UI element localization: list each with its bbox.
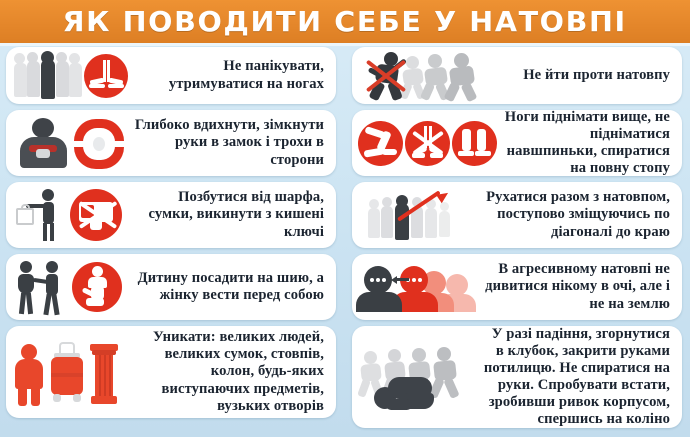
card-text: У разі падіння, згорнутися в клубок, зак…	[478, 326, 674, 428]
red-diagonal-arrow-icon	[398, 192, 460, 226]
red-suitcase-icon	[50, 342, 84, 406]
dark-head-icon	[358, 264, 404, 312]
icons-no-panic	[12, 51, 128, 101]
person-hands-locked-icon	[16, 118, 72, 170]
red-circle-flat-feet-icon	[452, 121, 497, 166]
icons-raise-feet	[358, 119, 498, 167]
card-raise-feet-higher[interactable]: Ноги піднімати вище, не підніматися навш…	[352, 110, 682, 176]
red-circle-no-tiptoe-icon	[405, 121, 450, 166]
icons-child-on-shoulders	[12, 259, 128, 315]
icons-move-with-crowd	[358, 190, 470, 240]
infographic-page: ЯК ПОВОДИТИ СЕБЕ У НАТОВПІ	[0, 0, 690, 437]
card-text: В агресивному натовпі не дивитися нікому…	[476, 261, 674, 312]
card-child-on-shoulders[interactable]: Дитину посадити на шию, а жінку вести пе…	[6, 254, 336, 320]
red-column-icon	[90, 344, 118, 406]
dark-curled-fallen-person-icon	[374, 375, 446, 411]
card-avoid-eye-contact[interactable]: В агресивному натовпі не дивитися нікому…	[352, 254, 682, 320]
card-text: Уникати: великих людей, великих сумок, с…	[122, 329, 328, 414]
crowd-with-one-dark-person-icon	[12, 51, 84, 99]
card-deep-breath[interactable]: Глибоко вдихнути, зімкнути руки в замок …	[6, 110, 336, 176]
card-drop-scarf-bag[interactable]: Позбутися від шарфа, сумки, викинути з к…	[6, 182, 336, 248]
icons-drop-bag	[12, 187, 128, 243]
card-text: Глибоко вдихнути, зімкнути руки в замок …	[128, 117, 328, 168]
red-circle-no-bag-prohibited-icon	[70, 189, 122, 241]
red-circle-raised-leg-icon	[358, 121, 403, 166]
header-divider	[0, 43, 690, 46]
card-no-panic[interactable]: Не панікувати, утримуватися на ногах	[6, 47, 336, 104]
page-title: ЯК ПОВОДИТИ СЕБЕ У НАТОВПІ	[63, 5, 627, 38]
card-if-you-fall[interactable]: У разі падіння, згорнутися в клубок, зак…	[352, 326, 682, 428]
card-move-with-crowd[interactable]: Рухатися разом з натовпом, поступово змі…	[352, 182, 682, 248]
left-column: Не панікувати, утримуватися на ногах	[6, 47, 336, 424]
icons-deep-breath	[12, 114, 128, 172]
card-text: Рухатися разом з натовпом, поступово змі…	[470, 189, 674, 240]
red-circle-standing-feet-icon	[84, 54, 128, 98]
card-text: Позбутися від шарфа, сумки, викинути з к…	[128, 189, 328, 240]
card-text: Не панікувати, утримуватися на ногах	[128, 58, 328, 92]
red-circle-lungs-breathing-icon	[74, 119, 124, 169]
icons-if-you-fall	[358, 341, 478, 413]
card-avoid-obstacles[interactable]: Уникати: великих людей, великих сумок, с…	[6, 326, 336, 418]
person-dropping-bag-icon	[14, 189, 66, 241]
card-text: Дитину посадити на шию, а жінку вести пе…	[128, 270, 328, 304]
card-do-not-go-against-crowd[interactable]: Не йти проти натовпу	[352, 47, 682, 104]
icons-avoid-obstacles	[12, 336, 122, 408]
right-column: Не йти проти натовпу	[352, 47, 682, 434]
red-large-person-icon	[14, 344, 44, 406]
icons-eye-contact	[358, 262, 476, 312]
red-circle-child-on-shoulders-icon	[72, 262, 122, 312]
icons-against-crowd	[358, 51, 478, 101]
woman-and-man-walking-icon	[14, 261, 72, 315]
person-running-against-crowd-crossed-icon	[360, 52, 412, 101]
card-text: Ноги піднімати вище, не підніматися навш…	[498, 109, 674, 177]
grey-running-crowd-icon	[402, 53, 478, 101]
card-text: Не йти проти натовпу	[478, 67, 674, 84]
eye-contact-arrow-icon	[391, 277, 409, 283]
page-header: ЯК ПОВОДИТИ СЕБЕ У НАТОВПІ	[0, 0, 690, 43]
